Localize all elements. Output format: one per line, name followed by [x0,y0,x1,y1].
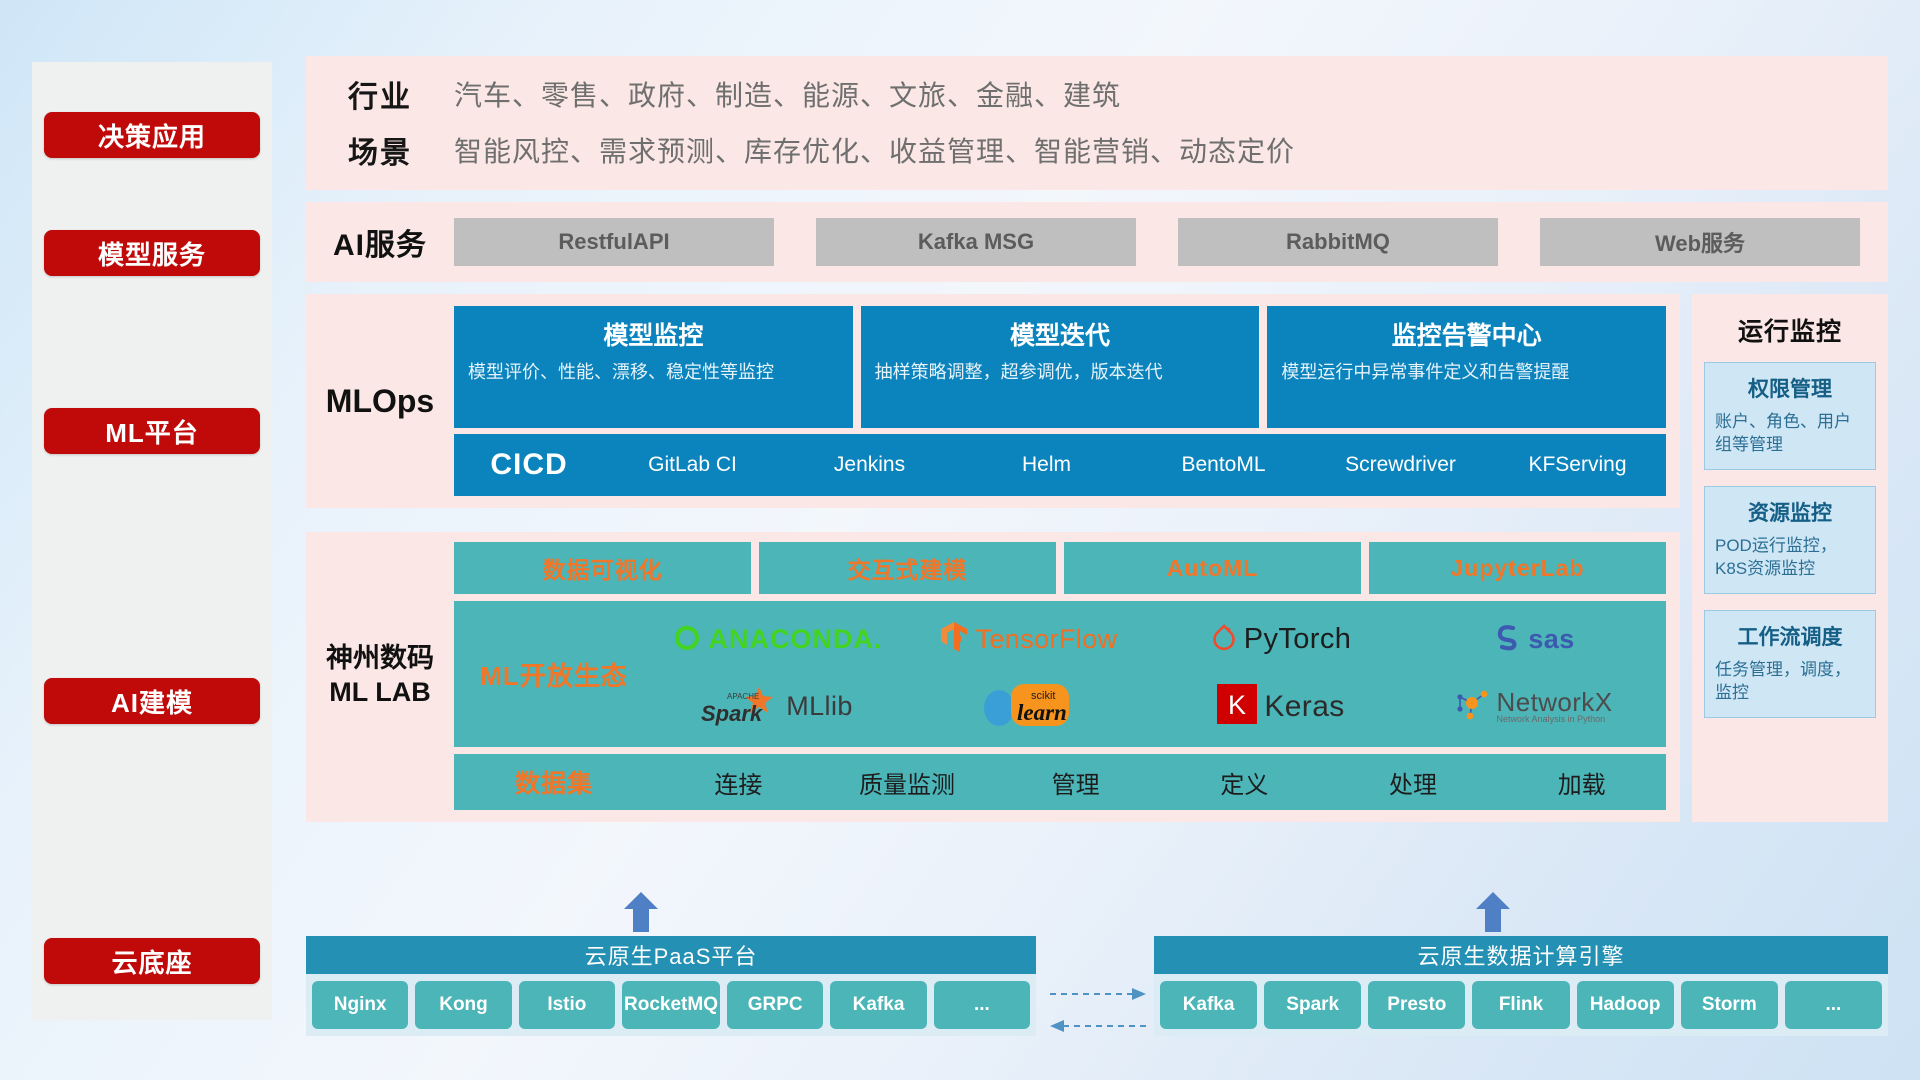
rail-label: 决策应用 [98,117,206,154]
layer-rail: 决策应用 模型服务 ML平台 AI建模 云底座 [32,62,272,1020]
dataset-label: 数据集 [454,764,654,800]
card-desc: 账户、角色、用户组等管理 [1715,411,1865,457]
ml-lab-band: 神州数码 ML LAB 数据可视化 交互式建模 AutoML JupyterLa… [306,532,1680,822]
card-desc: 任务管理，调度，监控 [1715,659,1865,705]
svg-text:K: K [1228,690,1246,720]
rail-item-model-service[interactable]: 模型服务 [44,230,260,276]
platform-section: MLOps 模型监控 模型评价、性能、漂移、稳定性等监控 模型迭代 抽样策略调整… [306,294,1888,822]
svg-text:APACHE: APACHE [727,692,759,701]
svg-text:Spark: Spark [701,701,764,726]
service-button-web[interactable]: Web服务 [1540,218,1860,266]
lab-tab-automl[interactable]: AutoML [1064,542,1361,594]
ml-lab-tabs: 数据可视化 交互式建模 AutoML JupyterLab [454,542,1666,594]
card-desc: POD运行监控，K8S资源监控 [1715,535,1865,581]
rail-label: AI建模 [111,683,193,720]
ml-ecosystem-panel: ML开放生态 ANACONDA. [454,601,1666,747]
ai-service-key: AI服务 [306,220,454,264]
paas-platform-title: 云原生PaaS平台 [306,936,1036,974]
card-title: 模型迭代 [875,316,1246,352]
card-title: 权限管理 [1715,373,1865,403]
main-column: 行业 汽车、零售、政府、制造、能源、文旅、金融、建筑 场景 智能风控、需求预测、… [306,56,1888,822]
paas-platform-column: 云原生PaaS平台 Nginx Kong Istio RocketMQ GRPC… [306,936,1036,1036]
lab-tab-jupyterlab[interactable]: JupyterLab [1369,542,1666,594]
service-button-restfulapi[interactable]: RestfulAPI [454,218,774,266]
dataset-item-management[interactable]: 管理 [991,765,1160,800]
rail-label: 模型服务 [98,235,206,272]
logo-anaconda[interactable]: ANACONDA. [672,622,883,657]
cicd-item-jenkins[interactable]: Jenkins [781,454,958,476]
service-button-kafka-msg[interactable]: Kafka MSG [816,218,1136,266]
architecture-diagram: 决策应用 模型服务 ML平台 AI建模 云底座 行业 汽车、零售、政府、制造、能… [0,0,1920,1080]
card-title: 模型监控 [468,316,839,352]
paas-pill-grpc[interactable]: GRPC [727,981,823,1029]
industry-value: 汽车、零售、政府、制造、能源、文旅、金融、建筑 [454,74,1121,114]
dataset-row: 数据集 连接 质量监测 管理 定义 处理 加载 [454,754,1666,810]
monitor-card-resource[interactable]: 资源监控 POD运行监控，K8S资源监控 [1704,486,1876,594]
rail-label: ML平台 [105,413,199,450]
mlops-key: MLOps [306,306,454,496]
logo-spark-mllib[interactable]: APACHE Spark MLlib [701,685,853,729]
rail-item-decision-app[interactable]: 决策应用 [44,112,260,158]
industry-row: 行业 汽车、零售、政府、制造、能源、文旅、金融、建筑 [306,72,1888,116]
engine-pill-storm[interactable]: Storm [1681,981,1778,1029]
monitor-card-permission[interactable]: 权限管理 账户、角色、用户组等管理 [1704,362,1876,470]
logo-scikit-learn[interactable]: scikit learn [981,680,1077,733]
mlops-card-model-iteration[interactable]: 模型迭代 抽样策略调整，超参调优，版本迭代 [861,306,1260,428]
scenario-row: 场景 智能风控、需求预测、库存优化、收益管理、智能营销、动态定价 [306,128,1888,172]
dataset-item-loading[interactable]: 加载 [1497,765,1666,800]
lab-tab-interactive-modeling[interactable]: 交互式建模 [759,542,1056,594]
card-desc: 模型运行中异常事件定义和告警提醒 [1281,360,1652,385]
logo-label: Keras [1264,690,1344,724]
business-band: 行业 汽车、零售、政府、制造、能源、文旅、金融、建筑 场景 智能风控、需求预测、… [306,56,1888,190]
platform-left: MLOps 模型监控 模型评价、性能、漂移、稳定性等监控 模型迭代 抽样策略调整… [306,294,1680,822]
engine-pill-kafka[interactable]: Kafka [1160,981,1257,1029]
dataset-item-quality-monitoring[interactable]: 质量监测 [823,765,992,800]
dataset-item-definition[interactable]: 定义 [1160,765,1329,800]
data-engine-column: 云原生数据计算引擎 Kafka Spark Presto Flink Hadoo… [1154,936,1888,1036]
rail-label: 云底座 [111,943,192,980]
paas-pill-kong[interactable]: Kong [415,981,511,1029]
logo-tensorflow[interactable]: TensorFlow [940,621,1117,658]
ml-lab-body: 数据可视化 交互式建模 AutoML JupyterLab ML开放生态 [454,542,1680,810]
spark-icon: APACHE Spark [701,685,779,729]
keras-icon: K [1217,684,1257,729]
rail-item-ai-modeling[interactable]: AI建模 [44,678,260,724]
card-title: 工作流调度 [1715,621,1865,651]
lab-tab-data-visualization[interactable]: 数据可视化 [454,542,751,594]
paas-platform-pills: Nginx Kong Istio RocketMQ GRPC Kafka ... [306,974,1036,1036]
cicd-row: CICD GitLab CI Jenkins Helm BentoML Scre… [454,434,1666,496]
paas-pill-more[interactable]: ... [934,981,1030,1029]
paas-pill-istio[interactable]: Istio [519,981,615,1029]
monitor-card-workflow[interactable]: 工作流调度 任务管理，调度，监控 [1704,610,1876,718]
card-title: 资源监控 [1715,497,1865,527]
up-arrow-icon-data-engine [1476,892,1510,932]
anaconda-icon [672,622,702,657]
svg-text:learn: learn [1017,700,1067,725]
cicd-item-screwdriver[interactable]: Screwdriver [1312,454,1489,476]
logo-pytorch[interactable]: PyTorch [1211,622,1352,657]
runtime-monitor-panel: 运行监控 权限管理 账户、角色、用户组等管理 资源监控 POD运行监控，K8S资… [1692,294,1888,822]
logo-label: PyTorch [1244,623,1352,656]
logo-sas[interactable]: sas [1491,623,1574,656]
ml-ecosystem-logos: ANACONDA. TensorFlow [654,601,1666,747]
card-desc: 模型评价、性能、漂移、稳定性等监控 [468,360,839,385]
mlops-card-alert-center[interactable]: 监控告警中心 模型运行中异常事件定义和告警提醒 [1267,306,1666,428]
ml-lab-key: 神州数码 ML LAB [306,542,454,810]
dataset-item-connect[interactable]: 连接 [654,765,823,800]
ml-ecosystem-label: ML开放生态 [454,601,654,747]
ml-lab-key-line2: ML LAB [326,676,434,710]
tensorflow-icon [940,621,968,658]
logo-keras[interactable]: K Keras [1217,684,1344,729]
data-engine-title: 云原生数据计算引擎 [1154,936,1888,974]
engine-pill-more[interactable]: ... [1785,981,1882,1029]
card-title: 监控告警中心 [1281,316,1652,352]
ai-service-band: AI服务 RestfulAPI Kafka MSG RabbitMQ Web服务 [306,202,1888,282]
cicd-label: CICD [454,448,604,482]
engine-pill-hadoop[interactable]: Hadoop [1577,981,1674,1029]
up-arrow-icon-paas [624,892,658,932]
paas-pill-kafka[interactable]: Kafka [830,981,926,1029]
networkx-icon [1454,687,1490,726]
bidirectional-dashed-arrows [1048,984,1148,1036]
logo-label: MLlib [786,691,853,722]
logo-networkx[interactable]: NetworkX Network Analysis in Python [1454,687,1613,726]
runtime-monitor-title: 运行监控 [1704,312,1876,348]
data-engine-pills: Kafka Spark Presto Flink Hadoop Storm ..… [1154,974,1888,1036]
sas-icon [1491,623,1521,656]
networkx-tagline: Network Analysis in Python [1497,715,1613,724]
engine-pill-spark[interactable]: Spark [1264,981,1361,1029]
mlops-band: MLOps 模型监控 模型评价、性能、漂移、稳定性等监控 模型迭代 抽样策略调整… [306,294,1680,508]
engine-pill-presto[interactable]: Presto [1368,981,1465,1029]
service-button-rabbitmq[interactable]: RabbitMQ [1178,218,1498,266]
logo-label: ANACONDA. [709,624,883,655]
engine-pill-flink[interactable]: Flink [1472,981,1569,1029]
paas-pill-nginx[interactable]: Nginx [312,981,408,1029]
scikit-learn-icon: scikit learn [981,680,1077,733]
cicd-item-helm[interactable]: Helm [958,454,1135,476]
pytorch-icon [1211,622,1237,657]
industry-key: 行业 [306,72,454,116]
paas-pill-rocketmq[interactable]: RocketMQ [622,981,720,1029]
mlops-cards: 模型监控 模型评价、性能、漂移、稳定性等监控 模型迭代 抽样策略调整，超参调优，… [454,306,1666,428]
dataset-item-processing[interactable]: 处理 [1329,765,1498,800]
cloud-base-section: 云原生PaaS平台 Nginx Kong Istio RocketMQ GRPC… [306,918,1888,1050]
ml-lab-key-line1: 神州数码 [326,642,434,676]
rail-item-ml-platform[interactable]: ML平台 [44,408,260,454]
cicd-item-kfserving[interactable]: KFServing [1489,454,1666,476]
logo-label: NetworkX [1497,687,1613,717]
card-desc: 抽样策略调整，超参调优，版本迭代 [875,360,1246,385]
mlops-card-model-monitoring[interactable]: 模型监控 模型评价、性能、漂移、稳定性等监控 [454,306,853,428]
logo-label: TensorFlow [975,624,1117,655]
scenario-value: 智能风控、需求预测、库存优化、收益管理、智能营销、动态定价 [454,130,1295,170]
rail-item-cloud-base[interactable]: 云底座 [44,938,260,984]
cicd-item-gitlab-ci[interactable]: GitLab CI [604,454,781,476]
scenario-key: 场景 [306,128,454,172]
cicd-item-bentoml[interactable]: BentoML [1135,454,1312,476]
logo-label: sas [1528,624,1574,655]
ai-service-buttons: RestfulAPI Kafka MSG RabbitMQ Web服务 [454,218,1888,266]
mlops-body: 模型监控 模型评价、性能、漂移、稳定性等监控 模型迭代 抽样策略调整，超参调优，… [454,306,1680,496]
